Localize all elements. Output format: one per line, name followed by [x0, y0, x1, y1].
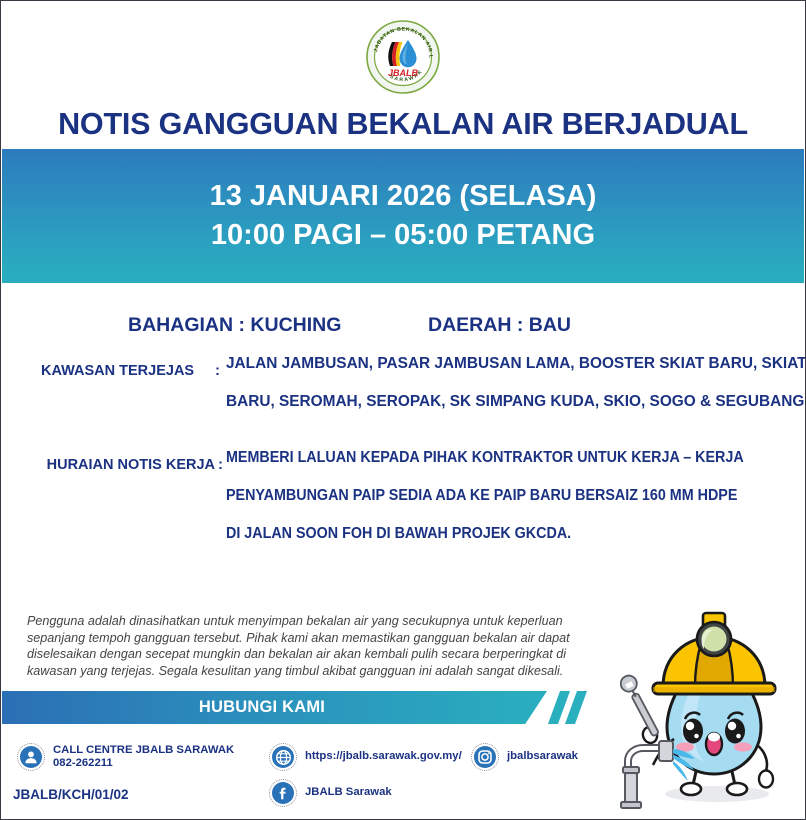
page-title: NOTIS GANGGUAN BEKALAN AIR BERJADUAL [1, 107, 805, 142]
call-centre-text: CALL CENTRE JBALB SARAWAK 082-262211 [53, 744, 234, 771]
work-description-line-2: PENYAMBUNGAN PAIP SEDIA ADA KE PAIP BARU… [226, 477, 803, 515]
affected-area-value: JALAN JAMBUSAN, PASAR JAMBUSAN LAMA, BOO… [226, 345, 786, 421]
work-description-line-1: MEMBERI LALUAN KEPADA PIHAK KONTRAKTOR U… [226, 439, 803, 477]
call-centre-line-2: 082-262211 [53, 757, 113, 769]
work-description-label: HURAIAN NOTIS KERJA [29, 457, 215, 473]
notice-time: 10:00 PAGI – 05:00 PETANG [211, 219, 595, 252]
banner-slash-decor-2 [565, 691, 587, 724]
notice-date: 13 JANUARI 2026 (SELASA) [210, 180, 597, 213]
svg-text:JBALB: JBALB [388, 68, 419, 78]
contact-website[interactable]: https://jbalb.sarawak.gov.my/ [269, 743, 462, 771]
notice-poster: JABATAN BEKALAN AIR LUAR BANDAR SARAWAK … [0, 0, 806, 820]
affected-area-line-2: BARU, SEROMAH, SEROPAK, SK SIMPANG KUDA,… [226, 383, 786, 421]
facebook-icon [269, 779, 297, 807]
district-label: DAERAH : BAU [428, 314, 571, 337]
work-description-block: HURAIAN NOTIS KERJA : MEMBERI LALUAN KEP… [1, 453, 805, 563]
contact-instagram[interactable]: jbalbsarawak [471, 743, 578, 771]
contact-facebook[interactable]: JBALB Sarawak [269, 779, 392, 807]
call-centre-line-1: CALL CENTRE JBALB SARAWAK [53, 744, 234, 756]
work-description-line-3: DI JALAN SOON FOH DI BAWAH PROJEK GKCDA. [226, 515, 803, 553]
instagram-icon [471, 743, 499, 771]
website-text: https://jbalb.sarawak.gov.my/ [305, 750, 462, 764]
affected-area-label: KAWASAN TERJEJAS [41, 363, 193, 379]
division-label: BAHAGIAN : KUCHING [128, 314, 341, 337]
date-time-banner: 13 JANUARI 2026 (SELASA) 10:00 PAGI – 05… [2, 149, 804, 283]
reference-code: JBALB/KCH/01/02 [13, 787, 129, 802]
work-description-colon: : [218, 456, 223, 473]
instagram-text: jbalbsarawak [507, 750, 578, 764]
logo-container: JABATAN BEKALAN AIR LUAR BANDAR SARAWAK … [1, 19, 805, 95]
globe-icon [269, 743, 297, 771]
facebook-text: JBALB Sarawak [305, 786, 392, 800]
jbalb-logo: JABATAN BEKALAN AIR LUAR BANDAR SARAWAK … [366, 20, 440, 94]
affected-area-block: KAWASAN TERJEJAS : JALAN JAMBUSAN, PASAR… [1, 359, 805, 434]
affected-area-line-1: JALAN JAMBUSAN, PASAR JAMBUSAN LAMA, BOO… [226, 345, 786, 383]
disclaimer-text: Pengguna adalah dinasihatkan untuk menyi… [27, 613, 597, 679]
affected-area-colon: : [215, 362, 220, 379]
water-droplet-mascot [619, 599, 795, 811]
person-icon [17, 743, 45, 771]
work-description-value: MEMBERI LALUAN KEPADA PIHAK KONTRAKTOR U… [226, 439, 803, 553]
contact-call-centre[interactable]: CALL CENTRE JBALB SARAWAK 082-262211 [17, 743, 234, 771]
contact-banner: HUBUNGI KAMI [2, 691, 562, 724]
contact-banner-title: HUBUNGI KAMI [2, 691, 522, 724]
